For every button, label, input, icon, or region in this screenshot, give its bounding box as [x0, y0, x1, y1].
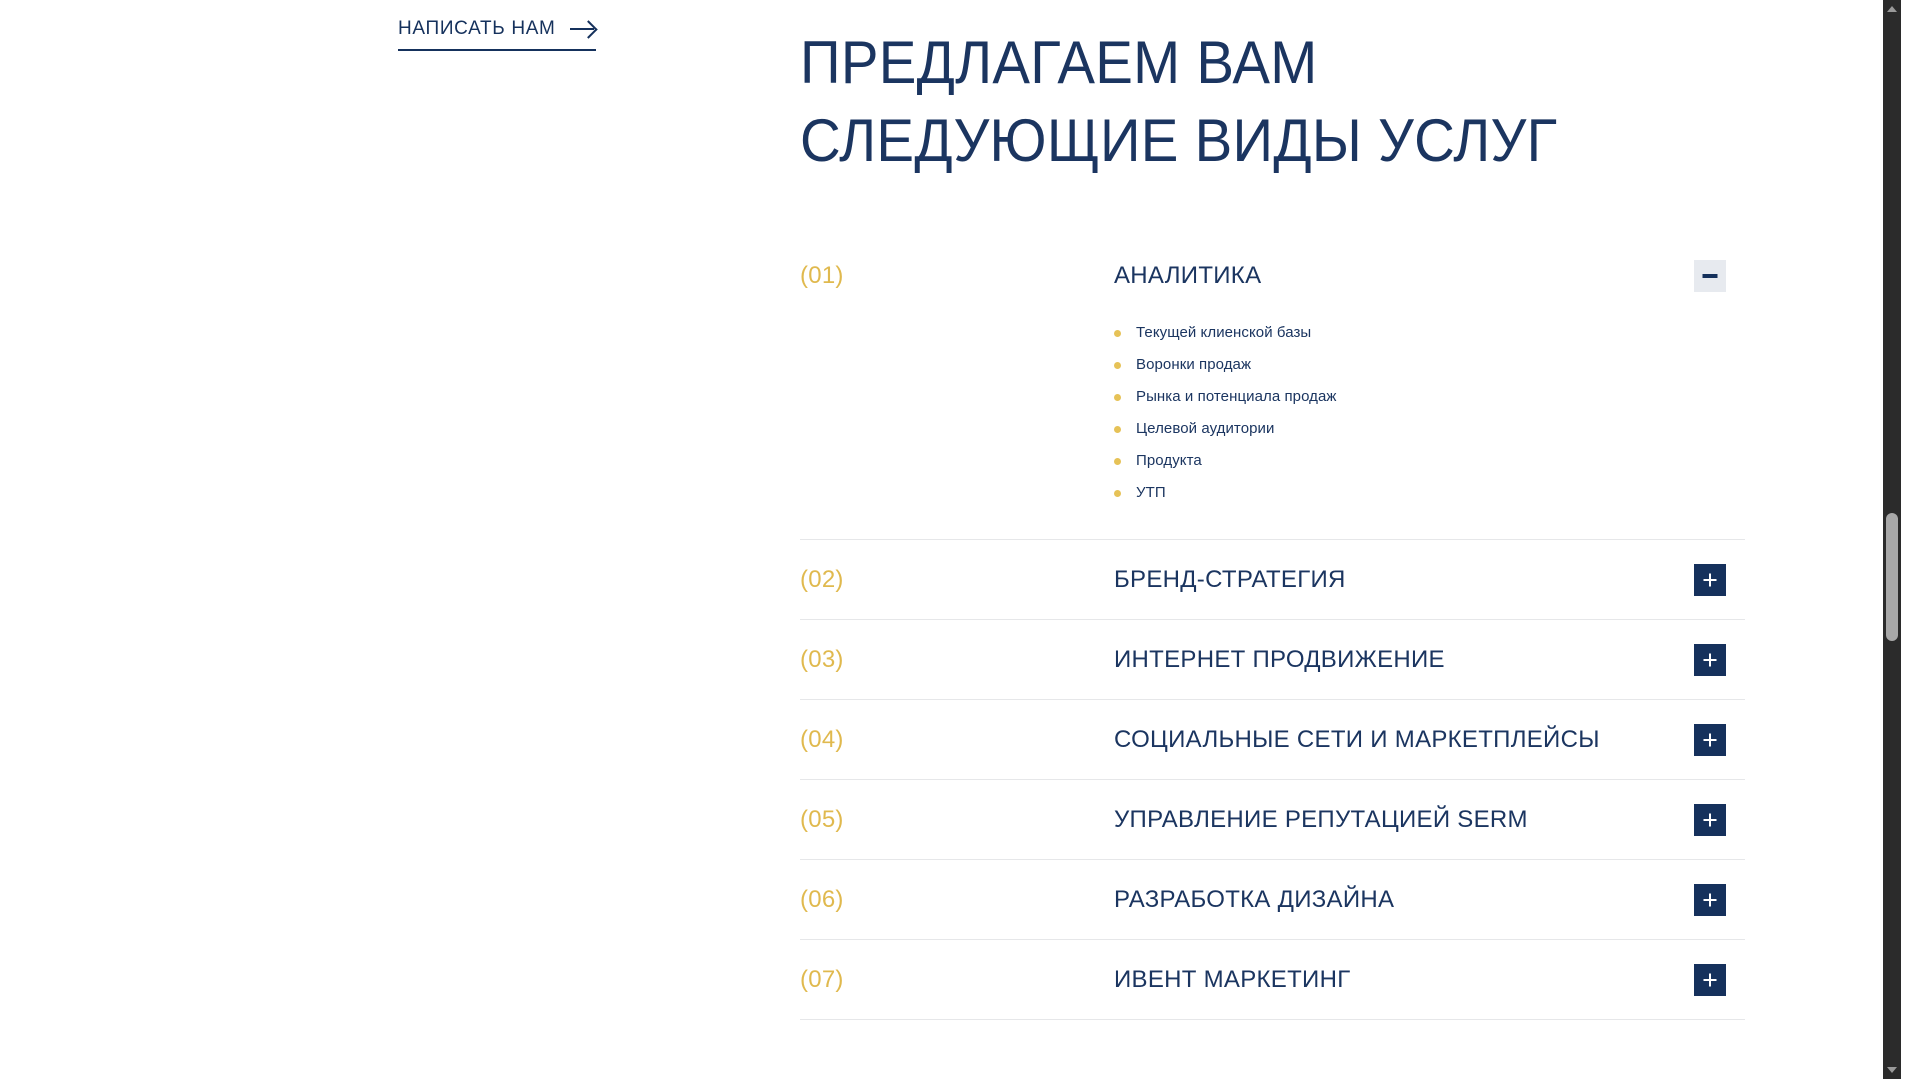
- plus-icon[interactable]: [1694, 564, 1726, 596]
- plus-icon[interactable]: [1694, 884, 1726, 916]
- accordion-header[interactable]: (04)СОЦИАЛЬНЫЕ СЕТИ И МАРКЕТПЛЕЙСЫ: [800, 700, 1745, 779]
- bullet-dot-icon: [1114, 426, 1121, 433]
- accordion-number: (02): [800, 566, 1114, 594]
- scrollbar-thumb[interactable]: [1886, 513, 1898, 641]
- accordion-item: (06)РАЗРАБОТКА ДИЗАЙНА: [800, 860, 1745, 940]
- accordion-header[interactable]: (01)АНАЛИТИКА: [800, 236, 1745, 315]
- accordion-item: (07)ИВЕНТ МАРКЕТИНГ: [800, 940, 1745, 1020]
- contact-us-link[interactable]: НАПИСАТЬ НАМ: [398, 18, 596, 51]
- toggle-bar-vertical: [1709, 573, 1711, 586]
- toggle-bar-vertical: [1709, 733, 1711, 746]
- accordion-header[interactable]: (03)ИНТЕРНЕТ ПРОДВИЖЕНИЕ: [800, 620, 1745, 699]
- accordion-header[interactable]: (02)БРЕНД-СТРАТЕГИЯ: [800, 540, 1745, 619]
- minus-icon[interactable]: [1694, 260, 1726, 292]
- accordion-number: (01): [800, 262, 1114, 290]
- accordion-item: (05)УПРАВЛЕНИЕ РЕПУТАЦИЕЙ SERM: [800, 780, 1745, 860]
- bullet-dot-icon: [1114, 394, 1121, 401]
- accordion-number: (04): [800, 726, 1114, 754]
- accordion-header[interactable]: (05)УПРАВЛЕНИЕ РЕПУТАЦИЕЙ SERM: [800, 780, 1745, 859]
- bullet-dot-icon: [1114, 362, 1121, 369]
- list-item-label: Продукта: [1136, 452, 1202, 469]
- toggle-bar-vertical: [1709, 653, 1711, 666]
- list-item: Рынка и потенциала продаж: [1114, 381, 1745, 413]
- vertical-scrollbar[interactable]: [1883, 0, 1901, 1079]
- page-canvas: НАПИСАТЬ НАМ ПРЕДЛАГАЕМ ВАМ СЛЕДУЮЩИЕ ВИ…: [0, 0, 1901, 1079]
- accordion-title: РАЗРАБОТКА ДИЗАЙНА: [1114, 886, 1694, 914]
- list-item: Целевой аудитории: [1114, 413, 1745, 445]
- plus-icon[interactable]: [1694, 724, 1726, 756]
- accordion-title: СОЦИАЛЬНЫЕ СЕТИ И МАРКЕТПЛЕЙСЫ: [1114, 726, 1694, 754]
- page-title: ПРЕДЛАГАЕМ ВАМ СЛЕДУЮЩИЕ ВИДЫ УСЛУГ: [800, 24, 1665, 180]
- list-item: Воронки продаж: [1114, 349, 1745, 381]
- caret-up-icon[interactable]: [1887, 6, 1897, 12]
- plus-icon[interactable]: [1694, 964, 1726, 996]
- list-item-label: Текущей клиенской базы: [1136, 324, 1311, 341]
- arrow-right-icon: [570, 21, 596, 37]
- toggle-bar-vertical: [1709, 973, 1711, 986]
- accordion-number: (07): [800, 966, 1114, 994]
- accordion-title: УПРАВЛЕНИЕ РЕПУТАЦИЕЙ SERM: [1114, 806, 1694, 834]
- contact-us-label: НАПИСАТЬ НАМ: [398, 18, 556, 40]
- accordion-title: ИНТЕРНЕТ ПРОДВИЖЕНИЕ: [1114, 646, 1694, 674]
- list-item: УТП: [1114, 477, 1745, 509]
- list-item-label: УТП: [1136, 484, 1166, 501]
- list-item-label: Воронки продаж: [1136, 356, 1251, 373]
- list-item-label: Целевой аудитории: [1136, 420, 1274, 437]
- accordion-item: (01)АНАЛИТИКАТекущей клиенской базыВорон…: [800, 236, 1745, 540]
- accordion-title: ИВЕНТ МАРКЕТИНГ: [1114, 966, 1694, 994]
- caret-down-icon[interactable]: [1887, 1067, 1897, 1073]
- bullet-dot-icon: [1114, 490, 1121, 497]
- accordion-header[interactable]: (07)ИВЕНТ МАРКЕТИНГ: [800, 940, 1745, 1019]
- list-item: Текущей клиенской базы: [1114, 317, 1745, 349]
- accordion-item: (04)СОЦИАЛЬНЫЕ СЕТИ И МАРКЕТПЛЕЙСЫ: [800, 700, 1745, 780]
- list-item: Продукта: [1114, 445, 1745, 477]
- accordion-item: (02)БРЕНД-СТРАТЕГИЯ: [800, 540, 1745, 620]
- bullet-list: Текущей клиенской базыВоронки продажРынк…: [1114, 315, 1745, 509]
- list-item-label: Рынка и потенциала продаж: [1136, 388, 1337, 405]
- accordion-panel: Текущей клиенской базыВоронки продажРынк…: [800, 315, 1745, 539]
- toggle-bar-horizontal: [1703, 274, 1718, 278]
- bullet-dot-icon: [1114, 458, 1121, 465]
- toggle-bar-vertical: [1709, 893, 1711, 906]
- accordion-title: АНАЛИТИКА: [1114, 262, 1694, 290]
- accordion-item: (03)ИНТЕРНЕТ ПРОДВИЖЕНИЕ: [800, 620, 1745, 700]
- plus-icon[interactable]: [1694, 804, 1726, 836]
- plus-icon[interactable]: [1694, 644, 1726, 676]
- divider: [800, 1019, 1745, 1020]
- main-column: ПРЕДЛАГАЕМ ВАМ СЛЕДУЮЩИЕ ВИДЫ УСЛУГ (01)…: [800, 0, 1760, 1020]
- toggle-bar-vertical: [1709, 813, 1711, 826]
- bullet-dot-icon: [1114, 330, 1121, 337]
- accordion-number: (06): [800, 886, 1114, 914]
- accordion-number: (05): [800, 806, 1114, 834]
- accordion-title: БРЕНД-СТРАТЕГИЯ: [1114, 566, 1694, 594]
- accordion-number: (03): [800, 646, 1114, 674]
- accordion-header[interactable]: (06)РАЗРАБОТКА ДИЗАЙНА: [800, 860, 1745, 939]
- services-accordion: (01)АНАЛИТИКАТекущей клиенской базыВорон…: [800, 236, 1745, 1020]
